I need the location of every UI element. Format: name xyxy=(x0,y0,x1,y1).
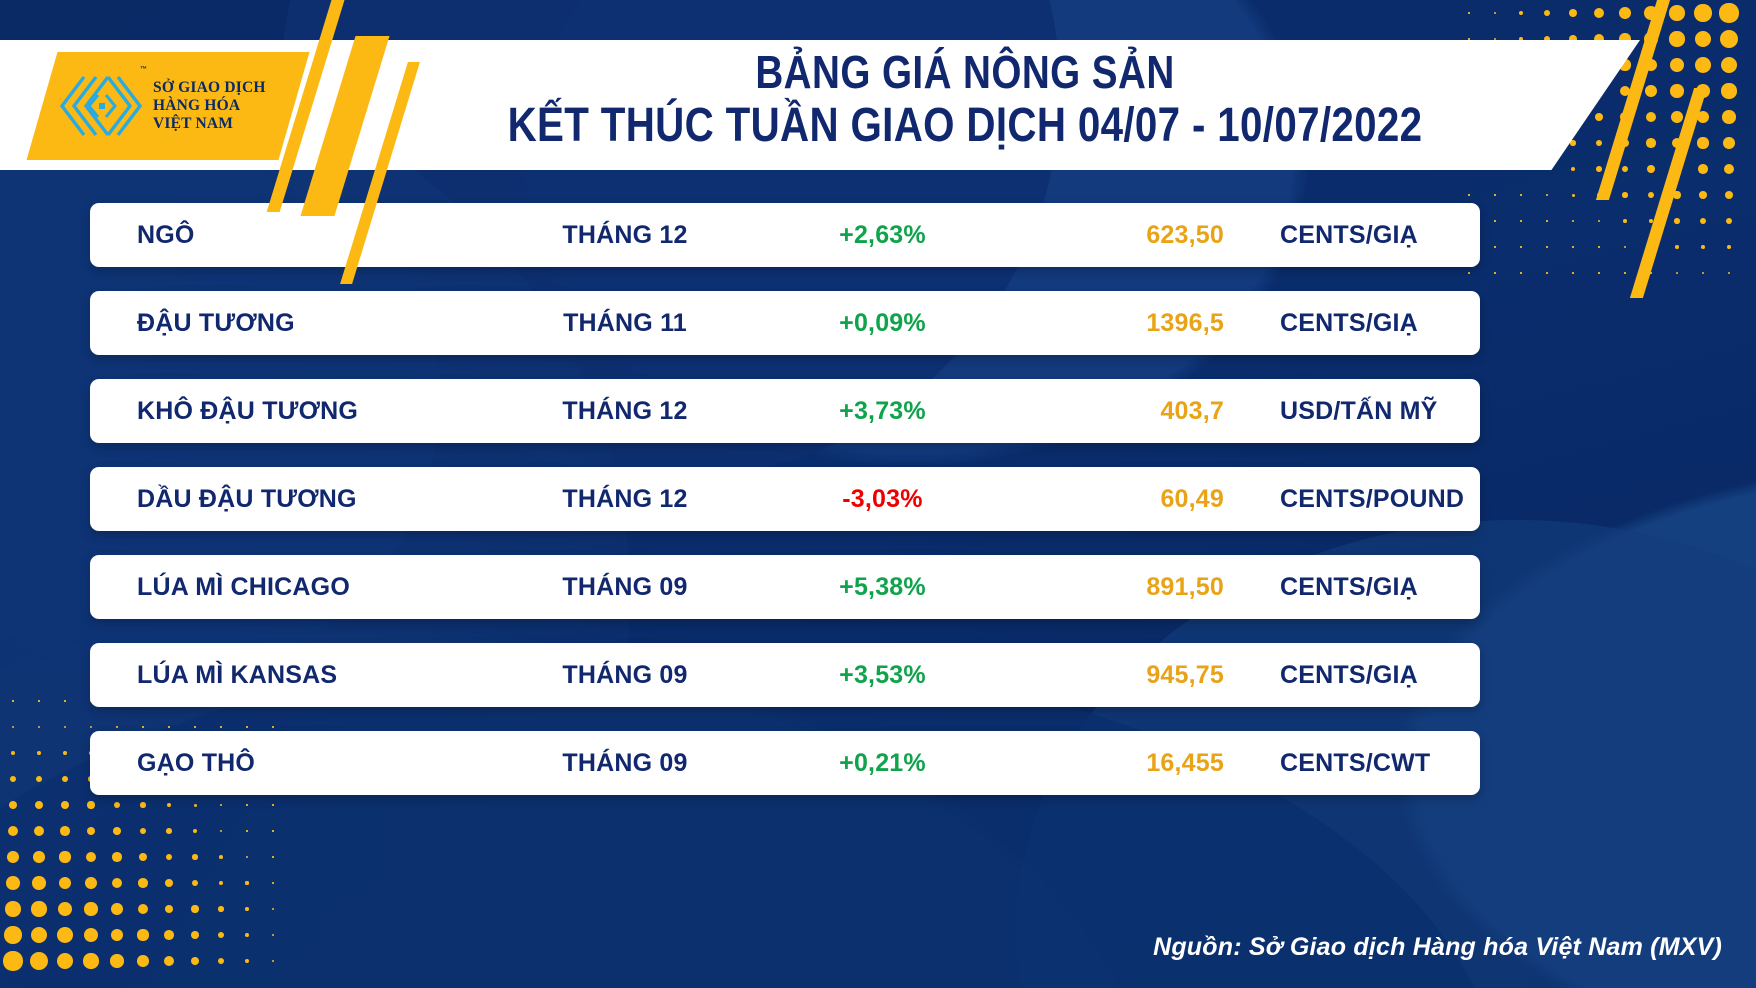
brand-logo: SỞ GIAO DỊCH HÀNG HÓA VIỆT NAM xyxy=(58,56,288,156)
decorative-dot xyxy=(165,879,173,887)
commodity-name: GẠO THÔ xyxy=(137,749,255,777)
change-percent-cell: +0,09% xyxy=(760,309,1005,338)
decorative-dot xyxy=(113,827,121,835)
decorative-dot xyxy=(10,776,16,782)
contract-month: THÁNG 12 xyxy=(562,397,687,425)
decorative-dot xyxy=(1646,112,1657,123)
price-unit-cell: CENTS/GIẠ xyxy=(1240,573,1480,602)
decorative-dot xyxy=(1494,38,1497,41)
contract-month-cell: THÁNG 12 xyxy=(490,397,760,426)
decorative-dot xyxy=(1520,272,1521,273)
decorative-dot xyxy=(1674,218,1679,223)
decorative-dot xyxy=(1675,245,1679,249)
decorative-dot xyxy=(140,828,147,835)
decorative-dot xyxy=(1646,138,1655,147)
decorative-dot xyxy=(1670,84,1683,97)
commodity-name: ĐẬU TƯƠNG xyxy=(137,309,295,337)
decorative-dot xyxy=(59,851,70,862)
decorative-dot xyxy=(38,700,39,701)
decorative-dot xyxy=(138,878,147,887)
decorative-dot xyxy=(272,908,274,910)
decorative-dot xyxy=(1698,164,1708,174)
decorative-dot xyxy=(1570,140,1575,145)
commodity-name: LÚA MÌ CHICAGO xyxy=(137,573,350,601)
decorative-dot xyxy=(1695,57,1711,73)
decorative-dot xyxy=(272,856,273,857)
decorative-dot xyxy=(1694,4,1711,21)
price-value-cell: 1396,5 xyxy=(1005,309,1240,338)
page-title: BẢNG GIÁ NÔNG SẢN KẾT THÚC TUẦN GIAO DỊC… xyxy=(400,48,1530,152)
decorative-dot xyxy=(166,828,172,834)
price-value: 945,75 xyxy=(1146,661,1224,689)
brand-line-3: VIỆT NAM xyxy=(153,115,266,133)
contract-month-cell: THÁNG 12 xyxy=(490,221,760,250)
decorative-dot xyxy=(1699,191,1707,199)
price-unit-cell: CENTS/CWT xyxy=(1240,749,1480,778)
decorative-dot xyxy=(1702,272,1704,274)
decorative-dot xyxy=(192,854,197,859)
price-value: 16,455 xyxy=(1146,749,1224,777)
decorative-dot xyxy=(11,751,16,756)
contract-month-cell: THÁNG 12 xyxy=(490,485,760,514)
decorative-dot xyxy=(1494,220,1495,221)
decorative-dot xyxy=(34,826,44,836)
decorative-dot xyxy=(1647,165,1655,173)
change-percent: +0,21% xyxy=(839,749,926,777)
table-row[interactable]: DẦU ĐẬU TƯƠNGTHÁNG 12-3,03%60,49CENTS/PO… xyxy=(90,467,1480,531)
contract-month: THÁNG 09 xyxy=(562,573,687,601)
decorative-dot xyxy=(1544,10,1550,16)
decorative-dot xyxy=(272,934,274,936)
price-value: 623,50 xyxy=(1146,221,1224,249)
decorative-dot xyxy=(9,801,17,809)
decorative-dot xyxy=(7,851,19,863)
decorative-dot xyxy=(1622,192,1627,197)
change-percent: -3,03% xyxy=(842,485,922,513)
price-value: 403,7 xyxy=(1160,397,1224,425)
change-percent-cell: +5,38% xyxy=(760,573,1005,602)
decorative-dot xyxy=(165,905,174,914)
decorative-dot xyxy=(1722,110,1736,124)
decorative-dot xyxy=(1648,192,1654,198)
decorative-dot xyxy=(1623,219,1627,223)
commodity-name: KHÔ ĐẬU TƯƠNG xyxy=(137,397,358,425)
decorative-dot xyxy=(37,751,42,756)
decorative-dot xyxy=(1598,220,1601,223)
commodity-name-cell: LÚA MÌ KANSAS xyxy=(90,661,490,690)
decorative-dot xyxy=(137,955,149,967)
table-row[interactable]: LÚA MÌ CHICAGOTHÁNG 09+5,38%891,50CENTS/… xyxy=(90,555,1480,619)
decorative-dot xyxy=(112,878,123,889)
price-value-cell: 403,7 xyxy=(1005,397,1240,426)
decorative-dot xyxy=(1669,5,1685,21)
decorative-dot xyxy=(1519,11,1524,16)
contract-month-cell: THÁNG 09 xyxy=(490,661,760,690)
decorative-dot xyxy=(61,801,69,809)
decorative-dot xyxy=(1724,164,1734,174)
change-percent-cell: +3,73% xyxy=(760,397,1005,426)
decorative-dot xyxy=(1494,272,1495,273)
price-value: 891,50 xyxy=(1146,573,1224,601)
decorative-dot xyxy=(1721,83,1736,98)
decorative-dot xyxy=(272,882,273,883)
decorative-dot xyxy=(218,906,223,911)
decorative-dot xyxy=(1676,272,1678,274)
change-percent: +0,09% xyxy=(839,309,926,337)
decorative-dot xyxy=(1569,9,1577,17)
price-table: NGÔTHÁNG 12+2,63%623,50CENTS/GIẠĐẬU TƯƠN… xyxy=(90,203,1480,819)
trademark-symbol: ™ xyxy=(140,66,147,73)
emblem-center-dot xyxy=(99,103,105,109)
decorative-dot xyxy=(245,933,249,937)
decorative-dot xyxy=(32,876,46,890)
price-value-cell: 60,49 xyxy=(1005,485,1240,514)
contract-month-cell: THÁNG 09 xyxy=(490,573,760,602)
commodity-name-cell: DẦU ĐẬU TƯƠNG xyxy=(90,485,490,514)
decorative-dot xyxy=(1622,166,1629,173)
decorative-dot xyxy=(58,902,72,916)
title-primary: BẢNG GIÁ NÔNG SẢN xyxy=(490,48,1439,98)
decorative-dot xyxy=(1695,31,1712,48)
decorative-dot xyxy=(1645,85,1657,97)
decorative-dot xyxy=(12,700,13,701)
decorative-dot xyxy=(138,904,148,914)
contract-month: THÁNG 12 xyxy=(562,221,687,249)
decorative-dot xyxy=(1624,272,1625,273)
decorative-dot xyxy=(1624,246,1626,248)
decorative-dot xyxy=(57,927,73,943)
change-percent-cell: -3,03% xyxy=(760,485,1005,514)
decorative-dot xyxy=(1520,220,1521,221)
decorative-dot xyxy=(83,953,98,968)
decorative-dot xyxy=(245,881,248,884)
commodity-name: NGÔ xyxy=(137,221,195,249)
decorative-dot xyxy=(1595,113,1603,121)
price-unit-cell: CENTS/GIẠ xyxy=(1240,661,1480,690)
change-percent-cell: +2,63% xyxy=(760,221,1005,250)
decorative-dot xyxy=(1572,194,1575,197)
price-value: 60,49 xyxy=(1160,485,1224,513)
decorative-dot xyxy=(111,929,124,942)
decorative-dot xyxy=(36,776,42,782)
title-secondary: KẾT THÚC TUẦN GIAO DỊCH 04/07 - 10/07/20… xyxy=(490,100,1439,153)
decorative-dot xyxy=(137,929,148,940)
decorative-dot xyxy=(219,881,224,886)
decorative-dot xyxy=(86,852,96,862)
change-percent-cell: +0,21% xyxy=(760,749,1005,778)
decorative-dot xyxy=(166,854,173,861)
decorative-dot xyxy=(1468,194,1469,195)
contract-month-cell: THÁNG 11 xyxy=(490,309,760,338)
decorative-dot xyxy=(218,958,224,964)
decorative-dot xyxy=(57,953,74,970)
decorative-dot xyxy=(1619,7,1631,19)
decorative-dot xyxy=(1728,272,1731,275)
decorative-dot xyxy=(1494,194,1495,195)
decorative-dot xyxy=(1546,246,1547,247)
mxv-emblem-icon xyxy=(58,73,144,139)
price-unit-cell: CENTS/POUND xyxy=(1240,485,1480,514)
decorative-dot xyxy=(1598,246,1599,247)
change-percent: +5,38% xyxy=(839,573,926,601)
brand-wordmark: SỞ GIAO DỊCH HÀNG HÓA VIỆT NAM xyxy=(153,79,266,134)
decorative-dot xyxy=(191,905,198,912)
decorative-dot xyxy=(1700,218,1706,224)
decorative-dot xyxy=(1572,272,1573,273)
price-value: 1396,5 xyxy=(1146,309,1224,337)
decorative-dot xyxy=(164,930,174,940)
decorative-dot xyxy=(6,876,20,890)
commodity-name: DẦU ĐẬU TƯƠNG xyxy=(137,485,357,513)
decorative-dot xyxy=(1572,246,1573,247)
decorative-dot xyxy=(62,776,68,782)
decorative-dot xyxy=(5,901,21,917)
decorative-dot xyxy=(1468,12,1469,13)
decorative-dot xyxy=(30,952,48,970)
decorative-dot xyxy=(1720,30,1738,48)
decorative-dot xyxy=(33,851,45,863)
price-unit-cell: USD/TẤN MỸ xyxy=(1240,397,1480,426)
commodity-name-cell: ĐẬU TƯƠNG xyxy=(90,309,490,338)
decorative-dot xyxy=(85,877,97,889)
price-value-cell: 16,455 xyxy=(1005,749,1240,778)
price-unit-cell: CENTS/GIẠ xyxy=(1240,221,1480,250)
decorative-dot xyxy=(1520,246,1521,247)
contract-month: THÁNG 11 xyxy=(563,309,687,337)
table-row[interactable]: LÚA MÌ KANSASTHÁNG 09+3,53%945,75CENTS/G… xyxy=(90,643,1480,707)
decorative-dot xyxy=(1572,220,1574,222)
decorative-dot xyxy=(8,826,18,836)
price-unit: CENTS/GIẠ xyxy=(1280,221,1418,249)
decorative-dot xyxy=(220,830,223,833)
decorative-dot xyxy=(60,826,70,836)
table-row[interactable]: KHÔ ĐẬU TƯƠNGTHÁNG 12+3,73%403,7USD/TẤN … xyxy=(90,379,1480,443)
source-note: Nguồn: Sở Giao dịch Hàng hóa Việt Nam (M… xyxy=(1153,933,1722,962)
decorative-dot xyxy=(219,855,223,859)
price-unit: CENTS/POUND xyxy=(1280,485,1464,513)
contract-month: THÁNG 09 xyxy=(562,749,687,777)
decorative-dot xyxy=(1596,140,1603,147)
decorative-dot xyxy=(272,960,275,963)
price-unit: CENTS/CWT xyxy=(1280,749,1430,777)
decorative-dot xyxy=(1494,12,1497,15)
decorative-dot xyxy=(1596,166,1602,172)
decorative-dot xyxy=(1719,3,1738,22)
decorative-dot xyxy=(1727,245,1732,250)
brand-line-1: SỞ GIAO DỊCH xyxy=(153,79,266,97)
price-unit: CENTS/GIẠ xyxy=(1280,573,1418,601)
decorative-dot xyxy=(59,877,72,890)
decorative-dot xyxy=(139,853,147,861)
price-unit: CENTS/GIẠ xyxy=(1280,309,1418,337)
table-row[interactable]: NGÔTHÁNG 12+2,63%623,50CENTS/GIẠ xyxy=(90,203,1480,267)
decorative-dot xyxy=(191,957,199,965)
decorative-dot xyxy=(164,956,174,966)
decorative-dot xyxy=(245,959,250,964)
decorative-dot xyxy=(1520,194,1521,195)
commodity-name-cell: LÚA MÌ CHICAGO xyxy=(90,573,490,602)
decorative-dot xyxy=(112,852,121,861)
decorative-dot xyxy=(1468,38,1469,39)
decorative-dot xyxy=(1669,31,1684,46)
commodity-name-cell: KHÔ ĐẬU TƯƠNG xyxy=(90,397,490,426)
change-percent-cell: +3,53% xyxy=(760,661,1005,690)
decorative-dot xyxy=(1494,246,1495,247)
decorative-dot xyxy=(84,928,98,942)
decorative-dot xyxy=(87,827,96,836)
decorative-dot xyxy=(3,951,22,970)
decorative-dot xyxy=(64,700,65,701)
decorative-dot xyxy=(110,954,124,968)
decorative-dot xyxy=(31,901,46,916)
decorative-dot xyxy=(191,931,199,939)
decorative-dot xyxy=(1546,220,1547,221)
commodity-name-cell: NGÔ xyxy=(90,221,490,250)
price-unit: USD/TẤN MỸ xyxy=(1280,397,1438,425)
price-value-cell: 945,75 xyxy=(1005,661,1240,690)
decorative-dot xyxy=(1723,137,1735,149)
decorative-dot xyxy=(31,927,48,944)
decorative-dot xyxy=(12,726,15,729)
price-value-cell: 623,50 xyxy=(1005,221,1240,250)
decorative-dot xyxy=(1594,8,1604,18)
decorative-dot xyxy=(38,726,41,729)
decorative-dot xyxy=(84,902,97,915)
decorative-dot xyxy=(1546,194,1548,196)
decorative-dot xyxy=(1725,191,1733,199)
decorative-dot xyxy=(4,926,21,943)
commodity-name-cell: GẠO THÔ xyxy=(90,749,490,778)
price-unit: CENTS/GIẠ xyxy=(1280,661,1418,689)
decorative-dot xyxy=(245,907,249,911)
contract-month-cell: THÁNG 09 xyxy=(490,749,760,778)
decorative-dot xyxy=(35,801,43,809)
contract-month: THÁNG 12 xyxy=(562,485,687,513)
decorative-dot xyxy=(218,932,224,938)
commodity-name: LÚA MÌ KANSAS xyxy=(137,661,337,689)
decorative-dot xyxy=(1670,58,1684,72)
decorative-dot xyxy=(272,830,273,831)
contract-month: THÁNG 09 xyxy=(562,661,687,689)
decorative-dot xyxy=(246,830,247,831)
change-percent: +2,63% xyxy=(839,221,926,249)
decorative-dot xyxy=(111,903,123,915)
decorative-dot xyxy=(1726,218,1732,224)
decorative-dot xyxy=(192,880,198,886)
decorative-dot xyxy=(246,856,248,858)
decorative-dot xyxy=(1701,245,1705,249)
decorative-dot xyxy=(63,751,67,755)
table-row[interactable]: ĐẬU TƯƠNGTHÁNG 11+0,09%1396,5CENTS/GIẠ xyxy=(90,291,1480,355)
brand-line-2: HÀNG HÓA xyxy=(153,97,266,115)
decorative-dot xyxy=(1571,167,1575,171)
decorative-dot xyxy=(1598,272,1599,273)
price-value-cell: 891,50 xyxy=(1005,573,1240,602)
price-unit-cell: CENTS/GIẠ xyxy=(1240,309,1480,338)
infographic-canvas: SỞ GIAO DỊCH HÀNG HÓA VIỆT NAM ™ BẢNG GI… xyxy=(0,0,1756,988)
decorative-dot xyxy=(193,829,197,833)
decorative-dot xyxy=(1721,57,1738,74)
decorative-dot xyxy=(1697,137,1708,148)
decorative-dot xyxy=(1671,111,1683,123)
table-row[interactable]: GẠO THÔTHÁNG 09+0,21%16,455CENTS/CWT xyxy=(90,731,1480,795)
decorative-dot xyxy=(64,726,66,728)
decorative-dot xyxy=(1546,272,1547,273)
change-percent: +3,53% xyxy=(839,661,926,689)
change-percent: +3,73% xyxy=(839,397,926,425)
